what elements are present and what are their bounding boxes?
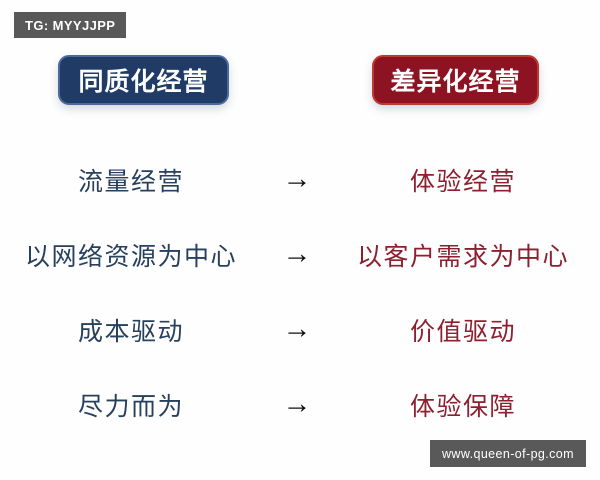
row-left-text: 流量经营 (0, 162, 262, 198)
row-left-text: 以网络资源为中心 (0, 237, 262, 273)
comparison-rows: 流量经营 → 体验经营 以网络资源为中心 → 以客户需求为中心 成本驱动 → 价… (0, 142, 600, 442)
arrow-right-icon: → (262, 315, 332, 344)
comparison-slide: TG: MYYJJPP 同质化经营 差异化经营 流量经营 → 体验经营 以网络资… (0, 0, 600, 480)
comparison-row: 流量经营 → 体验经营 (0, 142, 600, 217)
watermark-top-left: TG: MYYJJPP (14, 12, 126, 38)
arrow-right-icon: → (262, 240, 332, 269)
row-left-text: 尽力而为 (0, 387, 262, 423)
arrow-right-icon: → (262, 165, 332, 194)
row-right-text: 体验保障 (332, 387, 594, 423)
row-left-text: 成本驱动 (0, 312, 262, 348)
watermark-bottom-right: www.queen-of-pg.com (430, 440, 586, 467)
header-badge-left: 同质化经营 (58, 55, 229, 105)
comparison-row: 成本驱动 → 价值驱动 (0, 292, 600, 367)
row-right-text: 以客户需求为中心 (332, 237, 594, 273)
comparison-row: 尽力而为 → 体验保障 (0, 367, 600, 442)
row-right-text: 价值驱动 (332, 312, 594, 348)
header-badge-right: 差异化经营 (372, 55, 539, 105)
comparison-row: 以网络资源为中心 → 以客户需求为中心 (0, 217, 600, 292)
row-right-text: 体验经营 (332, 162, 594, 198)
arrow-right-icon: → (262, 390, 332, 419)
